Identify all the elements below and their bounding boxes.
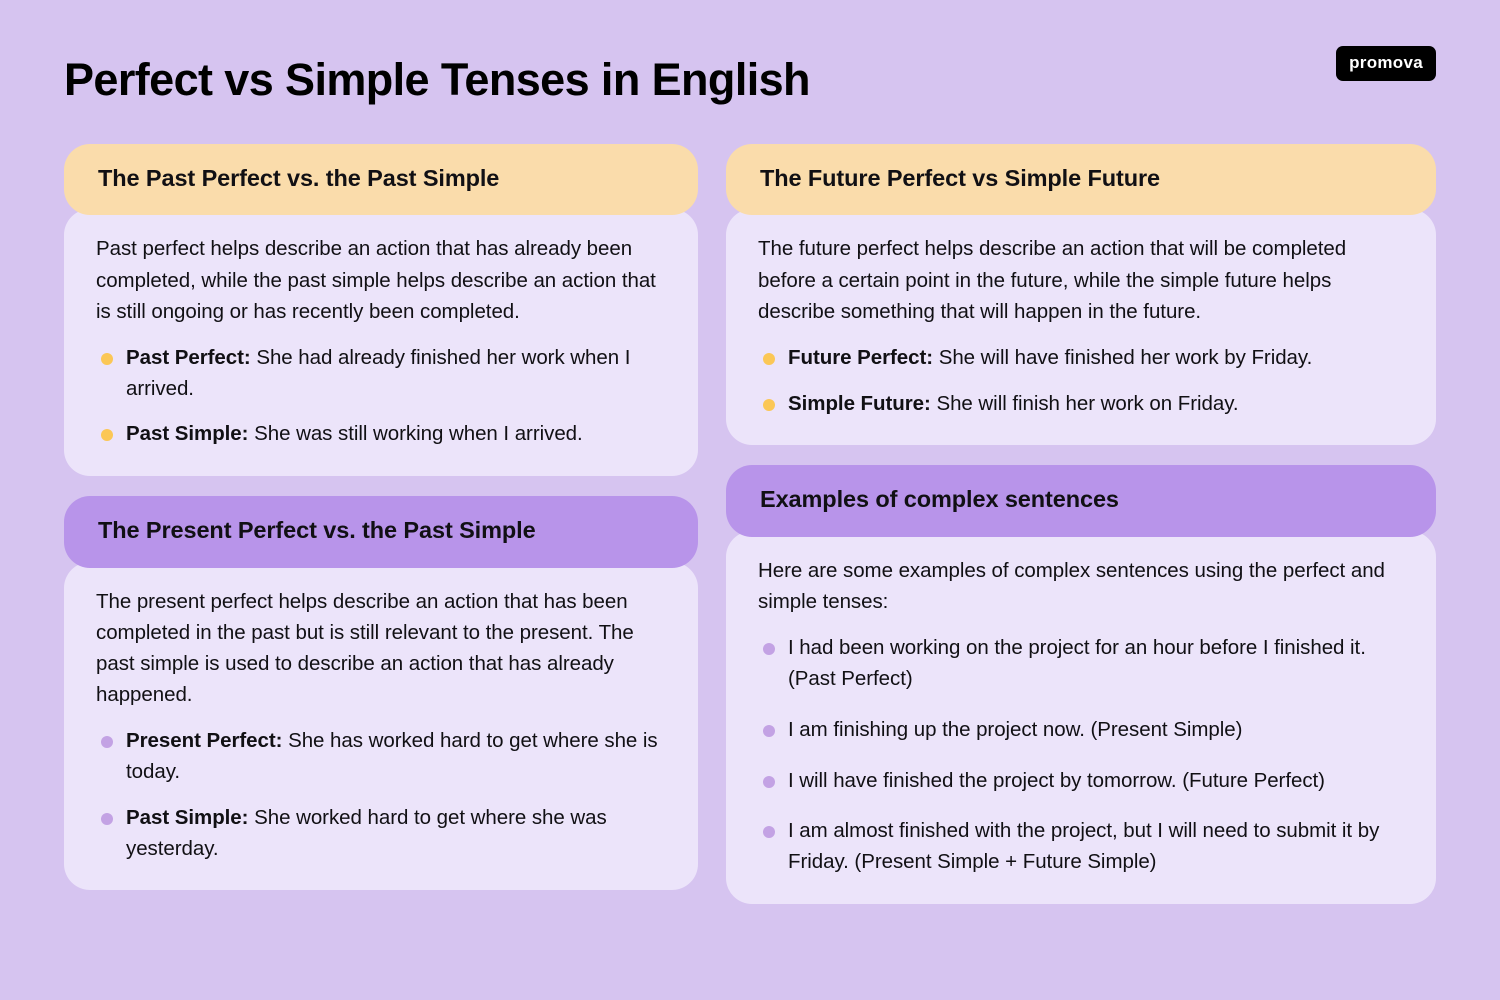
bullet-label: Past Perfect: bbox=[126, 346, 251, 369]
list-item: Present Perfect: She has worked hard to … bbox=[96, 726, 666, 788]
card-body: The present perfect helps describe an ac… bbox=[64, 562, 698, 891]
content-card: The Present Perfect vs. the Past SimpleT… bbox=[64, 496, 698, 890]
top-bar: Perfect vs Simple Tenses in English prom… bbox=[64, 34, 1436, 130]
bullet-text: I am almost finished with the project, b… bbox=[788, 819, 1379, 873]
list-item: Future Perfect: She will have finished h… bbox=[758, 343, 1404, 374]
card-body: Past perfect helps describe an action th… bbox=[64, 209, 698, 476]
card-body: Here are some examples of complex senten… bbox=[726, 531, 1436, 904]
infographic-page: Perfect vs Simple Tenses in English prom… bbox=[0, 0, 1500, 1000]
card-heading: The Past Perfect vs. the Past Simple bbox=[64, 144, 698, 215]
list-item: Simple Future: She will finish her work … bbox=[758, 389, 1404, 420]
bullet-text: She was still working when I arrived. bbox=[248, 422, 582, 445]
list-item: Past Perfect: She had already finished h… bbox=[96, 343, 666, 405]
content-card: The Past Perfect vs. the Past SimplePast… bbox=[64, 144, 698, 476]
list-item: Past Simple: She worked hard to get wher… bbox=[96, 803, 666, 865]
left-column: The Past Perfect vs. the Past SimplePast… bbox=[64, 144, 698, 904]
card-intro-text: Here are some examples of complex senten… bbox=[758, 555, 1404, 617]
bullet-text: I will have finished the project by tomo… bbox=[788, 769, 1325, 792]
bullet-label: Past Simple: bbox=[126, 422, 248, 445]
card-intro-text: The present perfect helps describe an ac… bbox=[96, 586, 666, 711]
content-card: The Future Perfect vs Simple FutureThe f… bbox=[726, 144, 1436, 445]
promova-logo: promova bbox=[1336, 46, 1436, 81]
card-heading: The Present Perfect vs. the Past Simple bbox=[64, 496, 698, 567]
list-item: I am finishing up the project now. (Pres… bbox=[758, 715, 1404, 746]
content-columns: The Past Perfect vs. the Past SimplePast… bbox=[64, 144, 1436, 904]
bullet-list: Present Perfect: She has worked hard to … bbox=[96, 726, 666, 864]
bullet-label: Simple Future: bbox=[788, 392, 931, 415]
card-heading: Examples of complex sentences bbox=[726, 465, 1436, 536]
content-card: Examples of complex sentencesHere are so… bbox=[726, 465, 1436, 903]
list-item: I will have finished the project by tomo… bbox=[758, 766, 1404, 797]
list-item: I am almost finished with the project, b… bbox=[758, 816, 1404, 878]
bullet-text: She will have finished her work by Frida… bbox=[933, 346, 1312, 369]
right-column: The Future Perfect vs Simple FutureThe f… bbox=[726, 144, 1436, 904]
bullet-text: I am finishing up the project now. (Pres… bbox=[788, 718, 1242, 741]
bullet-text: I had been working on the project for an… bbox=[788, 636, 1366, 690]
bullet-list: Future Perfect: She will have finished h… bbox=[758, 343, 1404, 420]
bullet-label: Past Simple: bbox=[126, 806, 248, 829]
card-body: The future perfect helps describe an act… bbox=[726, 209, 1436, 445]
card-intro-text: Past perfect helps describe an action th… bbox=[96, 233, 666, 326]
bullet-label: Future Perfect: bbox=[788, 346, 933, 369]
card-heading: The Future Perfect vs Simple Future bbox=[726, 144, 1436, 215]
bullet-label: Present Perfect: bbox=[126, 729, 282, 752]
page-title: Perfect vs Simple Tenses in English bbox=[64, 34, 810, 105]
bullet-text: She will finish her work on Friday. bbox=[931, 392, 1239, 415]
bullet-list: I had been working on the project for an… bbox=[758, 633, 1404, 878]
list-item: I had been working on the project for an… bbox=[758, 633, 1404, 695]
list-item: Past Simple: She was still working when … bbox=[96, 419, 666, 450]
bullet-list: Past Perfect: She had already finished h… bbox=[96, 343, 666, 450]
card-intro-text: The future perfect helps describe an act… bbox=[758, 233, 1404, 326]
